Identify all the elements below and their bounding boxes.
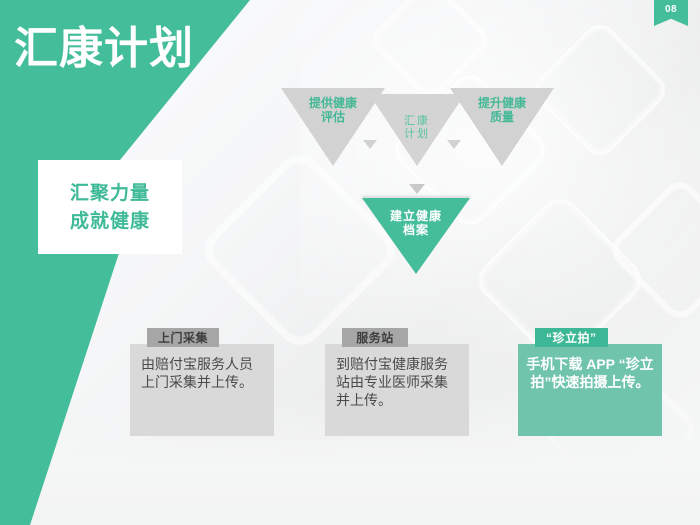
info-box-body: 由赔付宝服务人员上门采集并上传。 [130,344,274,436]
info-box-service-station[interactable]: 到赔付宝健康服务站由专业医师采集并上传。 服务站 [325,344,469,436]
slogan-line-2: 成就健康 [70,212,150,231]
connector-arrow-down-icon [409,184,425,194]
info-box-header: 服务站 [342,328,408,347]
slogan-card: 汇聚力量 成就健康 [38,160,182,254]
page-title: 汇康计划 [14,26,194,72]
connector-arrow-right-icon [447,140,461,149]
triangle-label: 建立健康 档案 [390,198,442,238]
triangle-label: 汇康 计划 [404,94,430,140]
info-box-body: 到赔付宝健康服务站由专业医师采集并上传。 [325,344,469,436]
info-box-header: 上门采集 [147,328,219,347]
info-box-row: 由赔付宝服务人员上门采集并上传。 上门采集 到赔付宝健康服务站由专业医师采集并上… [0,322,700,452]
info-box-body: 手机下载 APP “珍立拍”快速拍摄上传。 [518,344,662,436]
triangle-label: 提升健康 质量 [478,88,526,125]
connector-arrow-left-icon [363,140,377,149]
slogan-line-1: 汇聚力量 [70,184,150,203]
slide-canvas: 汇康计划 汇聚力量 成就健康 08 提供健康 评估 汇康 计划 提升健康 质量 … [0,0,700,525]
info-box-header: “珍立拍” [535,328,608,347]
triangle-label: 提供健康 评估 [309,88,357,125]
info-box-door-to-door-collection[interactable]: 由赔付宝服务人员上门采集并上传。 上门采集 [130,344,274,436]
info-box-zhen-li-pai-app[interactable]: 手机下载 APP “珍立拍”快速拍摄上传。 “珍立拍” [518,344,662,436]
